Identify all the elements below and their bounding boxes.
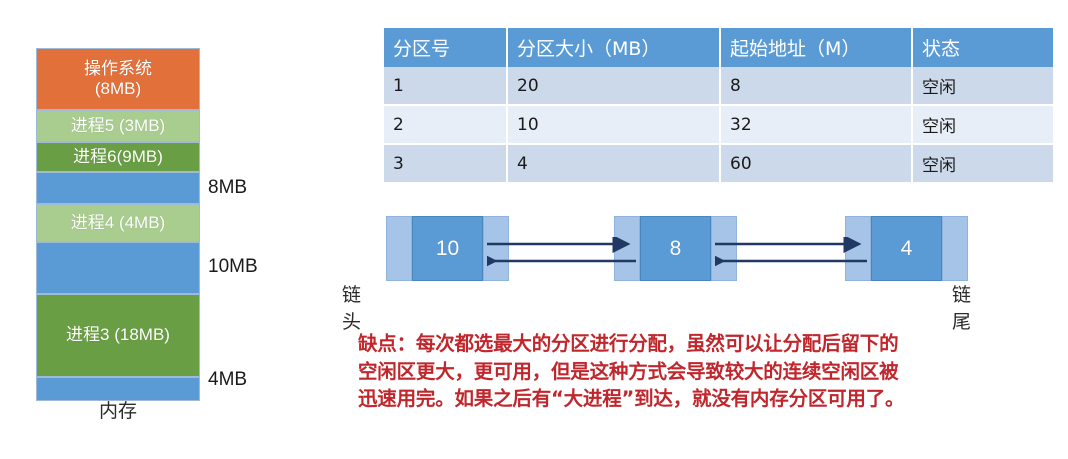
memory-size-marker-1: 10MB [208, 256, 258, 278]
memory-block-process-4: 进程4 (4MB) [36, 204, 200, 242]
memory-block-free-3 [36, 172, 200, 204]
drawback-note: 缺点：每次都选最大的分区进行分配，虽然可以让分配后留下的空闲区更大，更可用，但是… [358, 330, 1048, 413]
memory-size-marker-0: 8MB [208, 177, 247, 199]
table-cell-3: 空闲 [912, 105, 1053, 144]
table-cell-0: 3 [384, 144, 507, 183]
drawback-note-line-0: 缺点：每次都选最大的分区进行分配，虽然可以让分配后留下的 [358, 330, 1048, 358]
drawback-note-line-2: 迅速用完。如果之后有“大进程”到达，就没有内存分区可用了。 [358, 385, 1048, 413]
table-cell-3: 空闲 [912, 67, 1053, 105]
table-cell-0: 2 [384, 105, 507, 144]
partition-table-body: 1208空闲21032空闲3460空闲 [384, 67, 1053, 183]
list-head-label: 链头 [342, 280, 361, 334]
table-column-header-3: 状态 [912, 28, 1053, 67]
table-column-header-0: 分区号 [384, 28, 507, 67]
memory-size-marker-2: 4MB [208, 369, 247, 391]
drawback-note-line-1: 空闲区更大，更可用，但是这种方式会导致较大的连续空闲区被 [358, 358, 1048, 386]
partition-table-header: 分区号分区大小（MB）起始地址（M）状态 [384, 28, 1053, 67]
table-column-header-2: 起始地址（M） [720, 28, 912, 67]
memory-block-label: 进程5 (3MB) [71, 116, 165, 136]
memory-block-label: 进程4 (4MB) [71, 213, 165, 233]
table-row: 1208空闲 [384, 67, 1053, 105]
memory-block-label: 进程3 (18MB) [66, 325, 170, 345]
memory-layout-diagram: 操作系统(8MB)进程5 (3MB)进程6(9MB)进程4 (4MB)进程3 (… [36, 48, 200, 401]
memory-block-os-0: 操作系统(8MB) [36, 48, 200, 110]
list-node-next-pointer [942, 216, 968, 281]
table-row: 3460空闲 [384, 144, 1053, 183]
table-cell-2: 8 [720, 67, 912, 105]
table-cell-1: 10 [507, 105, 720, 144]
list-node-size-value: 4 [871, 216, 942, 281]
table-cell-1: 20 [507, 67, 720, 105]
table-cell-0: 1 [384, 67, 507, 105]
list-link-arrows [487, 237, 636, 283]
memory-block-process-6: 进程3 (18MB) [36, 294, 200, 377]
memory-block-sublabel: (8MB) [95, 79, 141, 99]
table-header-row: 分区号分区大小（MB）起始地址（M）状态 [384, 28, 1053, 67]
partition-table: 分区号分区大小（MB）起始地址（M）状态 1208空闲21032空闲3460空闲 [384, 28, 1053, 184]
memory-block-label: 进程6(9MB) [73, 147, 163, 167]
table-cell-1: 4 [507, 144, 720, 183]
table-cell-3: 空闲 [912, 144, 1053, 183]
memory-block-label: 操作系统 [84, 59, 152, 79]
memory-caption: 内存 [36, 396, 200, 423]
table-cell-2: 32 [720, 105, 912, 144]
list-node-size-value: 10 [412, 216, 483, 281]
list-link-arrows [715, 237, 867, 283]
memory-block-process-2: 进程6(9MB) [36, 142, 200, 172]
list-node-size-value: 8 [640, 216, 711, 281]
table-cell-2: 60 [720, 144, 912, 183]
list-tail-label: 链尾 [952, 280, 971, 334]
memory-block-free-5 [36, 242, 200, 294]
table-row: 21032空闲 [384, 105, 1053, 144]
memory-block-process-1: 进程5 (3MB) [36, 110, 200, 142]
list-node-prev-pointer [386, 216, 412, 281]
table-column-header-1: 分区大小（MB） [507, 28, 720, 67]
